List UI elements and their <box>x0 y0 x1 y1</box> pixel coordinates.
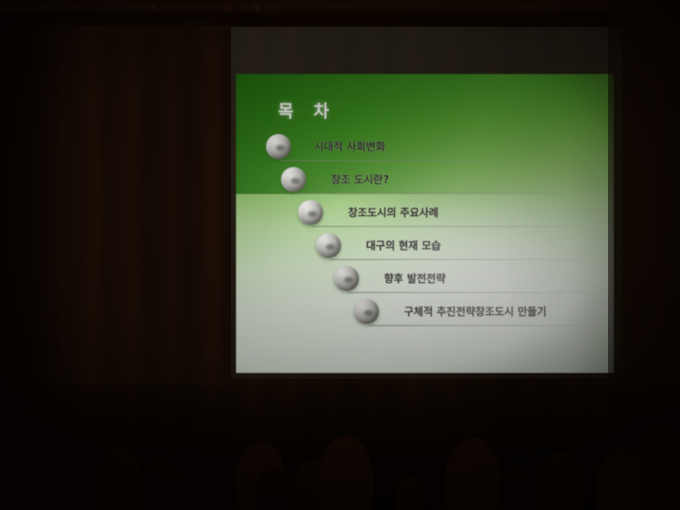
agenda-item-1: 시대적 사회변화 <box>236 132 614 165</box>
agenda-item-underline <box>330 259 588 260</box>
sphere-bullet-icon <box>354 299 379 324</box>
sphere-bullet-icon <box>316 233 341 258</box>
slide-title: 목 차 <box>278 97 336 122</box>
agenda-item-underline <box>348 292 590 293</box>
sphere-bullet-icon <box>281 167 306 192</box>
agenda-item-label: 창조 도시란? <box>331 172 389 187</box>
agenda-list: 시대적 사회변화 창조 도시란? 창조도시의 주요사례 대구의 현재 모습 <box>236 132 614 330</box>
sphere-bullet-icon <box>266 134 291 159</box>
agenda-item-underline <box>312 226 586 227</box>
audience-silhouettes <box>0 385 680 510</box>
agenda-item-label: 구체적 추진전략창조도시 만들기 <box>404 304 547 319</box>
sphere-bullet-icon <box>298 200 323 225</box>
ceiling-shadow <box>0 14 680 26</box>
agenda-item-underline <box>295 193 583 194</box>
agenda-item-3: 창조도시의 주요사례 <box>236 198 614 231</box>
agenda-item-5: 향후 발전전략 <box>236 264 614 297</box>
audience-head <box>395 476 425 510</box>
audience-head <box>140 460 182 510</box>
sphere-bullet-icon <box>334 266 359 291</box>
agenda-item-underline <box>280 160 580 161</box>
agenda-item-label: 창조도시의 주요사례 <box>348 205 439 220</box>
agenda-item-4: 대구의 현재 모습 <box>236 231 614 264</box>
agenda-item-2: 창조 도시란? <box>236 165 614 198</box>
presentation-slide: 목 차 시대적 사회변화 창조 도시란? 창조도시의 주요사례 대구의 현재 모… <box>236 74 614 373</box>
seat-back <box>0 458 110 510</box>
projected-slide-photo: ··· ···· ····· ····· ▮▮ 목 차 시대적 사회변화 창조 … <box>0 0 680 510</box>
agenda-item-6: 구체적 추진전략창조도시 만들기 <box>236 297 614 330</box>
audience-head <box>500 470 538 510</box>
agenda-item-label: 대구의 현재 모습 <box>366 238 441 253</box>
agenda-item-underline <box>368 325 592 326</box>
audience-head <box>255 470 293 510</box>
agenda-item-label: 향후 발전전략 <box>384 271 446 286</box>
agenda-item-label: 시대적 사회변화 <box>314 139 385 154</box>
